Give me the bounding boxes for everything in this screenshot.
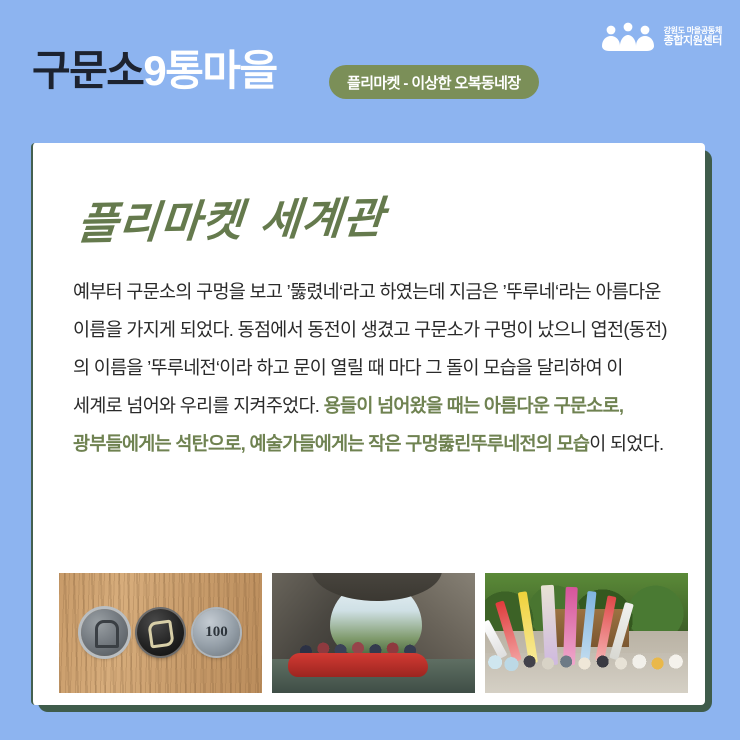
brand-title-dark: 구문소 xyxy=(32,47,143,94)
organization-logo-text: 강원도 마을공동체 종합지원센터 xyxy=(664,26,722,48)
raft-boat xyxy=(288,653,428,677)
card-body-text: 예부터 구문소의 구멍을 보고 ’뚫렸네‘라고 하였는데 지금은 ’뚜루네‘라는… xyxy=(73,273,673,463)
card-heading: 플리마켓 세계관 xyxy=(75,182,388,252)
content-card: 플리마켓 세계관 예부터 구문소의 구멍을 보고 ’뚫렸네‘라고 하였는데 지금… xyxy=(31,143,705,705)
coin-100-won: 100 xyxy=(193,609,240,656)
coin-silver-tuurune xyxy=(81,609,128,656)
poster-page: 구문소9통마을 플리마켓 - 이상한 오복동네장 강원도 마을공동체 종합지원센… xyxy=(0,0,740,740)
wave-people-mark-icon xyxy=(601,22,657,52)
subtitle-badge-label: 플리마켓 - 이상한 오복동네장 xyxy=(347,72,521,93)
body-paragraph-plain-2: 이 되었다. xyxy=(589,433,663,454)
parade-crowd xyxy=(485,643,688,675)
organization-name-line1: 강원도 마을공동체 xyxy=(664,26,722,35)
organization-name-line2: 종합지원센터 xyxy=(664,35,722,48)
brand-title-light: 9통마을 xyxy=(143,47,276,94)
photo-strip: 100 xyxy=(59,573,689,693)
rafting-through-gumunso-arch-photo xyxy=(272,573,475,693)
coin-black-tuurune xyxy=(137,609,184,656)
subtitle-badge: 플리마켓 - 이상한 오복동네장 xyxy=(329,65,539,99)
festival-parade-banners-photo xyxy=(485,573,688,693)
brand-title: 구문소9통마을 xyxy=(32,50,277,92)
coins-on-wood-photo: 100 xyxy=(59,573,262,693)
organization-logo: 강원도 마을공동체 종합지원센터 xyxy=(601,22,722,52)
poster-header: 구문소9통마을 플리마켓 - 이상한 오복동네장 강원도 마을공동체 종합지원센… xyxy=(0,0,740,130)
